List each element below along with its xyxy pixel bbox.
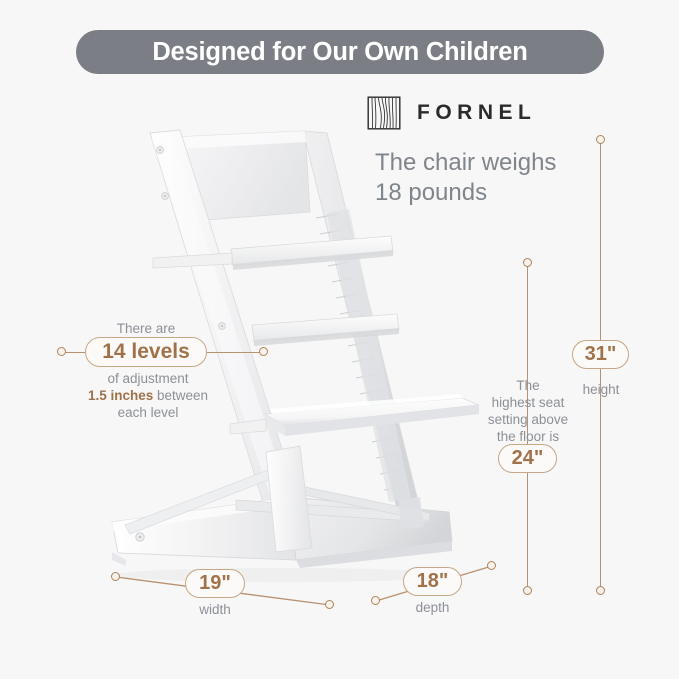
seat-height-desc-line-4: the floor is	[474, 428, 582, 445]
depth-endpoint-right-dot	[487, 561, 496, 570]
width-value-pill: 19"	[185, 569, 245, 598]
seat-height-desc-line-2: highest seat	[474, 394, 582, 411]
infographic-canvas: Designed for Our Own Children FORNEL The…	[0, 0, 679, 679]
width-endpoint-left-dot	[111, 572, 120, 581]
seat-height-endpoint-top-dot	[523, 258, 532, 267]
total-height-value: 31"	[585, 343, 617, 366]
width-endpoint-right-dot	[325, 600, 334, 609]
depth-endpoint-left-dot	[371, 596, 380, 605]
depth-value-pill: 18"	[403, 567, 462, 596]
levels-detail-label: of adjustment 1.5 inches between each le…	[55, 370, 241, 421]
levels-endpoint-left-dot	[57, 347, 66, 356]
width-value: 19"	[199, 572, 231, 595]
width-label: width	[185, 601, 245, 618]
seat-height-desc-line-1: The	[474, 377, 582, 394]
seat-height-value-pill: 24"	[498, 444, 557, 473]
levels-endpoint-right-dot	[259, 347, 268, 356]
seat-height-value: 24"	[512, 447, 544, 470]
seat-height-desc-line-3: setting above	[474, 411, 582, 428]
levels-detail-line-3: each level	[55, 404, 241, 421]
levels-detail-line-1: of adjustment	[55, 370, 241, 387]
levels-spacing-rest: between	[153, 388, 208, 403]
levels-detail-line-2: 1.5 inches between	[55, 387, 241, 404]
seat-height-description: The highest seat setting above the floor…	[474, 377, 582, 445]
seat-height-endpoint-bottom-dot	[523, 586, 532, 595]
depth-value: 18"	[417, 570, 449, 593]
total-height-endpoint-bottom-dot	[596, 586, 605, 595]
depth-label: depth	[403, 599, 462, 616]
levels-prefix-label: There are	[80, 320, 212, 337]
levels-spacing-value: 1.5 inches	[88, 388, 153, 403]
total-height-value-pill: 31"	[572, 340, 629, 369]
levels-value-pill: 14 levels	[85, 337, 207, 367]
total-height-label: height	[570, 381, 632, 398]
levels-value: 14 levels	[102, 340, 190, 364]
total-height-endpoint-top-dot	[596, 135, 605, 144]
